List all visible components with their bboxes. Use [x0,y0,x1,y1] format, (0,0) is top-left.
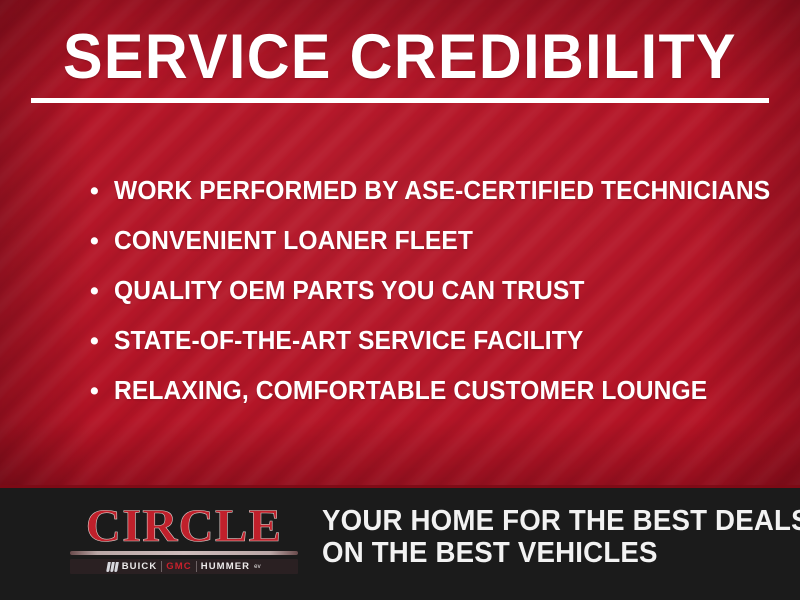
footer-top-divider [0,485,800,488]
list-item-label: CONVENIENT LOANER FLEET [114,226,473,256]
brand-label-hummer: HUMMER [201,562,250,572]
brand-separator [196,561,197,572]
list-item: • CONVENIENT LOANER FLEET [90,226,780,276]
footer-bar: CIRCLE BUICK GMC HUMMER ev YOUR HOME FOR… [0,488,800,600]
dealer-logo-wordmark: CIRCLE [65,504,302,548]
list-item-label: QUALITY OEM PARTS YOU CAN TRUST [114,276,585,306]
brand-separator [161,561,162,572]
list-item-label: STATE-OF-THE-ART SERVICE FACILITY [114,326,583,356]
title-underline-rule [31,98,769,103]
footer-tagline-line2: ON THE BEST VEHICLES [322,537,800,569]
list-item-label: WORK PERFORMED BY ASE-CERTIFIED TECHNICI… [114,176,770,206]
buick-tri-shield-icon [106,562,118,572]
bullet-dot-icon: • [90,226,114,256]
page-title: SERVICE CREDIBILITY [24,22,776,92]
brand-badge-row: BUICK GMC HUMMER ev [70,559,298,574]
list-item: • STATE-OF-THE-ART SERVICE FACILITY [90,326,780,376]
list-item: • QUALITY OEM PARTS YOU CAN TRUST [90,276,780,326]
service-credibility-slide: SERVICE CREDIBILITY • WORK PERFORMED BY … [0,0,800,600]
footer-tagline-line1: YOUR HOME FOR THE BEST DEALS [322,505,800,537]
list-item-label: RELAXING, COMFORTABLE CUSTOMER LOUNGE [114,376,707,406]
list-item: • WORK PERFORMED BY ASE-CERTIFIED TECHNI… [90,176,780,226]
bullet-dot-icon: • [90,326,114,356]
benefits-list: • WORK PERFORMED BY ASE-CERTIFIED TECHNI… [90,176,780,426]
bullet-dot-icon: • [90,376,114,406]
bullet-dot-icon: • [90,176,114,206]
footer-tagline: YOUR HOME FOR THE BEST DEALS ON THE BEST… [322,505,800,569]
dealer-logo[interactable]: CIRCLE BUICK GMC HUMMER ev [70,504,298,574]
list-item: • RELAXING, COMFORTABLE CUSTOMER LOUNGE [90,376,780,426]
brand-label-buick: BUICK [122,562,158,572]
bullet-dot-icon: • [90,276,114,306]
brand-label-hummer-ev-suffix: ev [254,564,261,570]
brand-label-gmc: GMC [166,562,191,572]
